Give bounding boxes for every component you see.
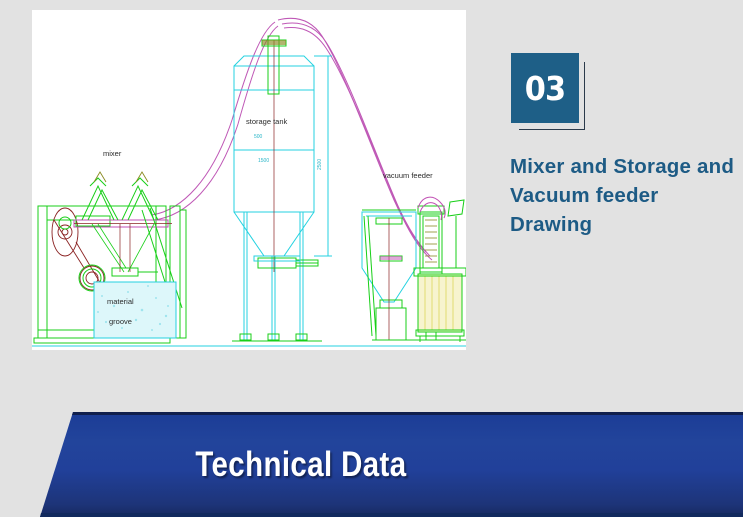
section-heading-text: Mixer and Storage and Vacuum feeder Draw… xyxy=(510,152,735,239)
vacuum-feeder-label: vacuum feeder xyxy=(383,171,433,180)
mixer-label: mixer xyxy=(103,149,122,158)
tank-height-dimension: 2500 xyxy=(317,159,323,170)
equipment-drawing-panel: mixer material groove xyxy=(32,10,466,350)
section-number-text: 03 xyxy=(525,72,565,105)
storage-tank-assembly: storage tank 500 1500 2500 xyxy=(232,36,332,341)
tank-top-dimension: 500 xyxy=(254,134,263,140)
material-label: material xyxy=(107,297,134,306)
product-tank xyxy=(418,274,462,332)
material-groove-box xyxy=(94,282,176,338)
section-number-badge: 03 xyxy=(511,53,579,123)
vacuum-feeder-assembly: vacuum feeder xyxy=(362,171,466,342)
tank-mid-dimension: 1500 xyxy=(258,158,269,164)
storage-tank-label: storage tank xyxy=(246,117,288,126)
banner-title-text: Technical Data xyxy=(59,412,683,517)
groove-label: groove xyxy=(109,317,132,326)
cad-drawing: mixer material groove xyxy=(32,10,466,350)
technical-data-banner: Technical Data xyxy=(0,412,743,517)
mixer-assembly: mixer material groove xyxy=(34,149,186,343)
